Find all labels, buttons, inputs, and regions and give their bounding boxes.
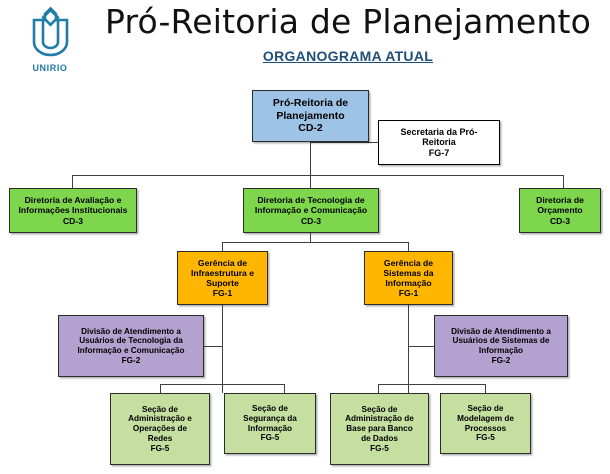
node-line-1: Seção de [227,404,313,414]
node-line-2: Sistemas da [367,268,450,278]
connector-gerencias-bus [222,242,409,243]
node-line-3: Processos [443,424,528,434]
node-line-1: Seção de [113,405,207,415]
node-code: CD-3 [522,216,598,226]
node-code: CD-3 [246,216,376,226]
node-gerencia-de-infraestrutura-e-suporte[interactable]: Gerência de Infraestrutura e Suporte FG-… [177,251,268,305]
node-code: CD-3 [12,216,134,226]
node-line-2: Modelagem de [443,414,528,424]
connector-sections-right-bus [378,384,485,385]
node-line-3: Informação [227,424,313,434]
node-secao-administracao-operacoes-redes[interactable]: Seção de Administração e Operações de Re… [110,393,210,465]
organogram-canvas: UNIRIO Pró-Reitoria de Planejamento ORGA… [0,0,610,474]
node-line-4: Redes [113,434,207,444]
node-code: FG-7 [381,148,497,159]
node-code: FG-1 [180,288,265,298]
node-line-3: Informação [367,278,450,288]
unirio-logo: UNIRIO [12,6,88,78]
node-line-1: Divisão de Atendimento a [61,327,201,337]
connector-ger2-to-div2 [408,346,434,347]
node-secao-seguranca-da-informacao[interactable]: Seção de Segurança da Informação FG-5 [224,393,316,454]
node-line-1: Seção de [333,405,426,415]
node-line-4: de Dados [333,434,426,444]
node-line-1: Seção de [443,404,528,414]
page-title: Pró-Reitoria de Planejamento [96,2,600,41]
node-line-1: Secretaria da Pró- [381,127,497,138]
connector-dir2-down [310,233,311,242]
connector-dir3-stem [563,175,564,188]
connector-sec1-stem [160,384,161,393]
node-divisao-atendimento-usuarios-sistemas-informacao[interactable]: Divisão de Atendimento a Usuários de Sis… [434,315,568,377]
connector-ger2-down [408,305,409,393]
connector-root-stem [310,142,311,175]
node-line-3: Suporte [180,278,265,288]
connector-ger1-stem [222,242,223,251]
unirio-logo-caption: UNIRIO [12,63,88,73]
node-line-2: Infraestrutura e [180,268,265,278]
node-line-2: Informações Institucionais [12,205,134,215]
node-line-2: Informação e Comunicação [246,205,376,215]
node-diretoria-de-tecnologia-de-informacao-e-comunicacao[interactable]: Diretoria de Tecnologia de Informação e … [243,188,379,233]
node-line-2: Orçamento [522,205,598,215]
node-code: FG-2 [61,356,201,366]
node-line-2: Administração e [113,414,207,424]
node-secao-administracao-base-banco-dados[interactable]: Seção de Administração de Base para Banc… [330,393,429,465]
node-diretoria-de-avaliacao-e-informacoes-institucionais[interactable]: Diretoria de Avaliação e Informações Ins… [9,188,137,233]
connector-sections-left-bus [160,384,284,385]
node-line-1: Diretoria de Tecnologia de [246,195,376,205]
node-code: FG-5 [227,433,313,443]
node-code: FG-2 [437,356,565,366]
node-code: FG-5 [333,444,426,454]
connector-ger1-to-div1 [204,346,223,347]
connector-directorates-bus [72,175,563,176]
node-divisao-atendimento-usuarios-tecnologia-informacao-comunicacao[interactable]: Divisão de Atendimento a Usuários de Tec… [58,315,204,377]
node-line-2: Reitoria [381,137,497,148]
node-line-1: Gerência de [180,258,265,268]
node-line-2: Usuários de Sistemas de [437,336,565,346]
node-line-3: Informação e Comunicação [61,346,201,356]
node-line-3: Informação [437,346,565,356]
page-subtitle: ORGANOGRAMA ATUAL [96,48,600,64]
node-line-2: Usuários de Tecnologia da [61,336,201,346]
node-gerencia-de-sistemas-da-informacao[interactable]: Gerência de Sistemas da Informação FG-1 [364,251,453,305]
node-secao-modelagem-de-processos[interactable]: Seção de Modelagem de Processos FG-5 [440,393,531,454]
connector-dir1-stem [72,175,73,188]
node-line-2: Administração de [333,414,426,424]
connector-dir2-stem [310,175,311,188]
node-line-1: Diretoria de [522,195,598,205]
node-code: FG-5 [443,433,528,443]
node-line-1: Divisão de Atendimento a [437,327,565,337]
node-line-1: Diretoria de Avaliação e [12,195,134,205]
connector-sec3-stem [378,384,379,393]
node-diretoria-de-orcamento[interactable]: Diretoria de Orçamento CD-3 [519,188,601,233]
connector-sec2-stem [284,384,285,393]
connector-sec4-stem [485,384,486,393]
connector-ger1-down [222,305,223,393]
node-code: FG-5 [113,444,207,454]
node-line-2: Planejamento [255,110,366,122]
node-secretaria-da-pro-reitoria[interactable]: Secretaria da Pró- Reitoria FG-7 [378,120,500,165]
node-line-1: Pró-Reitoria de [255,97,366,109]
connector-root-to-staff [310,142,378,143]
node-line-3: Base para Banco [333,424,426,434]
node-code: FG-1 [367,288,450,298]
node-line-1: Gerência de [367,258,450,268]
unirio-logo-mark [12,6,88,64]
connector-ger2-stem [408,242,409,251]
node-code: CD-2 [255,122,366,134]
node-line-3: Operações de [113,424,207,434]
node-pro-reitoria-de-planejamento[interactable]: Pró-Reitoria de Planejamento CD-2 [252,90,369,142]
node-line-2: Segurança da [227,414,313,424]
